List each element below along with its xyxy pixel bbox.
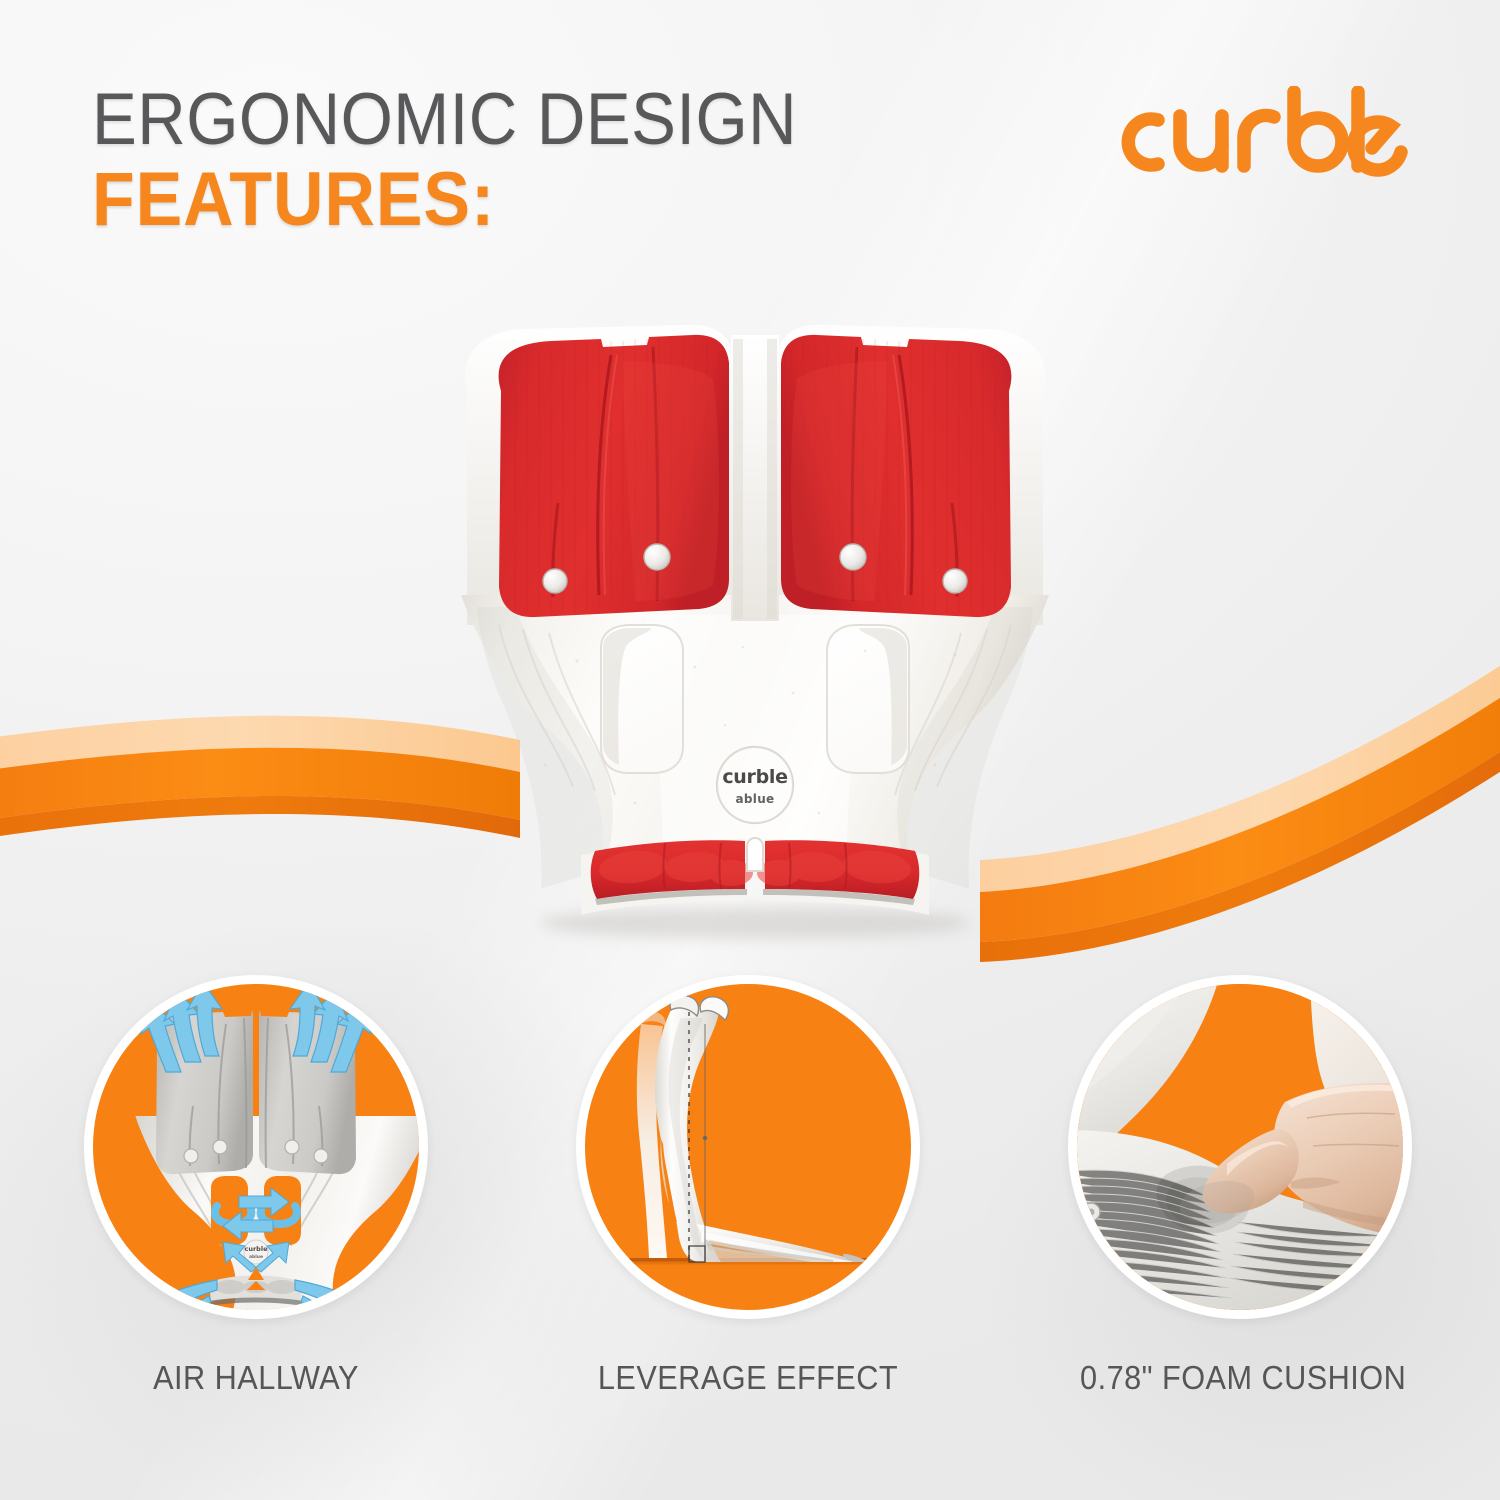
feature-image-leverage-effect [576,975,920,1319]
backrest-cushion-left [499,335,729,617]
brand-logo [1096,86,1408,186]
feature-card-air-hallway[interactable]: curble ablue [84,975,428,1397]
backrest-cushion-right [781,335,1011,617]
airflow-diagram-icon: curble ablue [93,984,419,1310]
page-title-block: ERGONOMIC DESIGN FEATURES: [92,86,858,238]
svg-text:curble: curble [722,766,787,788]
feature-label-air-hallway: AIR HALLWAY [96,1359,416,1397]
feature-card-foam-cushion[interactable]: 0.78" FOAM CUSHION [1068,975,1412,1397]
feature-label-leverage-effect: LEVERAGE EFFECT [588,1359,908,1397]
feature-card-leverage-effect[interactable]: LEVERAGE EFFECT [576,975,920,1397]
svg-text:ablue: ablue [249,1254,263,1260]
feature-image-air-hallway: curble ablue [84,975,428,1319]
feature-label-foam-cushion: 0.78" FOAM CUSHION [1080,1359,1400,1397]
product-logo-badge: curble ablue [717,747,793,823]
curble-wordmark-icon [1096,86,1408,186]
feature-image-foam-cushion [1068,975,1412,1319]
svg-text:ablue: ablue [736,792,775,806]
page-title-line2: FEATURES: [92,162,797,238]
side-profile-diagram-icon [585,984,911,1310]
page-title-line1: ERGONOMIC DESIGN [92,86,797,154]
hand-pressing-foam-icon [1077,984,1403,1310]
infographic-canvas: ERGONOMIC DESIGN FEATURES: [0,0,1500,1500]
svg-text:curble: curble [245,1245,269,1253]
feature-row: curble ablue [0,975,1500,1415]
product-image-curble-chair: curble ablue [395,295,1115,955]
